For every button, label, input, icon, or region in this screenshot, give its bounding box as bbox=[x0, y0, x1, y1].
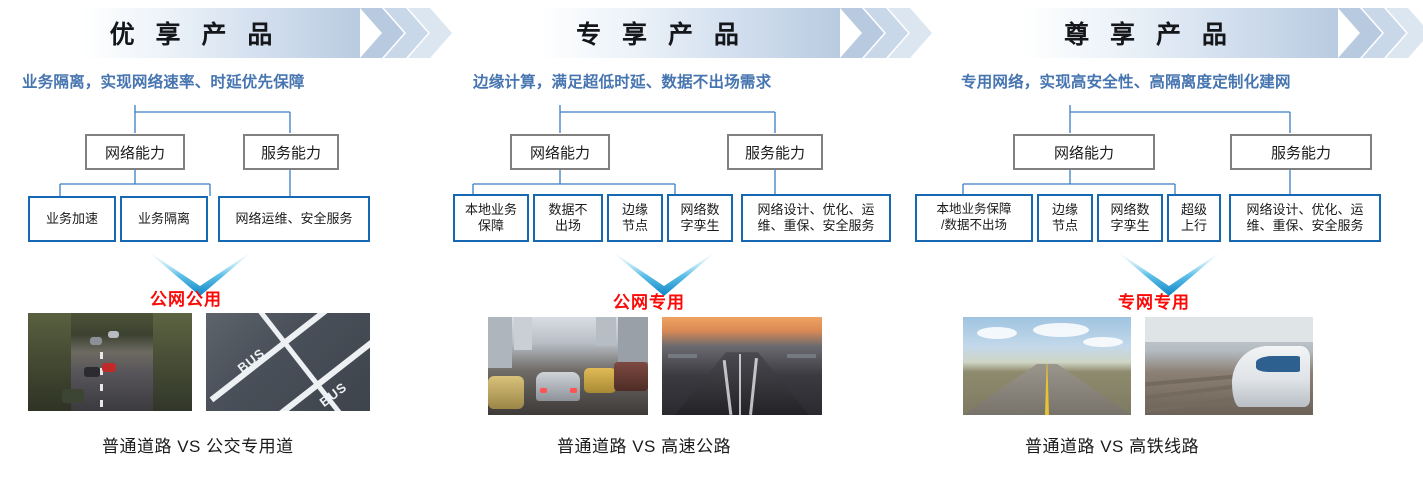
child-box-label: 业务隔离 bbox=[138, 211, 190, 227]
photo-highway bbox=[662, 317, 822, 415]
car-shape bbox=[84, 367, 100, 377]
lane-markings bbox=[100, 352, 103, 411]
child-box-row: 业务加速 业务隔离 网络运维、安全服务 bbox=[28, 196, 370, 242]
node-service-capability[interactable]: 服务能力 bbox=[1230, 134, 1372, 170]
child-box[interactable]: 数据不 出场 bbox=[533, 194, 603, 242]
child-box[interactable]: 本地业务保障 /数据不出场 bbox=[915, 194, 1033, 242]
photo-congested-road bbox=[488, 317, 648, 415]
cloud-shape bbox=[1083, 337, 1123, 347]
node-label: 服务能力 bbox=[1271, 142, 1331, 163]
node-label: 服务能力 bbox=[261, 142, 321, 163]
child-box-label: 网络设计、优化、运 维、重保、安全服务 bbox=[1246, 202, 1363, 235]
child-box-label: 本地业务 保障 bbox=[465, 202, 517, 235]
photo-high-speed-rail bbox=[1145, 317, 1313, 415]
child-box-label: 网络数 字孪生 bbox=[680, 202, 719, 235]
banner-youxiang: 优 享 产 品 bbox=[22, 8, 360, 58]
photo-caption: 普通道路 VS 公交专用道 bbox=[102, 432, 294, 457]
node-label: 网络能力 bbox=[105, 142, 165, 163]
cloud-shape bbox=[977, 327, 1017, 339]
banner-zhuanxiang: 专 享 产 品 bbox=[475, 8, 840, 58]
photo-pair bbox=[963, 317, 1313, 415]
child-box[interactable]: 网络数 字孪生 bbox=[667, 194, 733, 242]
building-shape bbox=[514, 317, 532, 350]
car-shape bbox=[108, 331, 119, 338]
child-box-row: 本地业务 保障 数据不 出场 边缘 节点 网络数 字孪生 网络设计、优化、运 维… bbox=[453, 194, 891, 242]
child-box-label: 本地业务保障 /数据不出场 bbox=[936, 202, 1011, 233]
child-box-row: 本地业务保障 /数据不出场 边缘 节点 网络数 字孪生 超级 上行 网络设计、优… bbox=[915, 194, 1381, 242]
banner-title: 尊 享 产 品 bbox=[1057, 15, 1234, 51]
child-box-label: 网络设计、优化、运 维、重保、安全服务 bbox=[757, 202, 874, 235]
photo-ordinary-road bbox=[28, 313, 192, 411]
child-box[interactable]: 业务隔离 bbox=[120, 196, 208, 242]
status-badge-gongwanggongyong: 公网公用 bbox=[150, 285, 222, 310]
child-box[interactable]: 网络设计、优化、运 维、重保、安全服务 bbox=[1229, 194, 1381, 242]
photo-caption: 普通道路 VS 高铁线路 bbox=[1025, 432, 1199, 457]
photo-caption: 普通道路 VS 高速公路 bbox=[557, 432, 731, 457]
child-box[interactable]: 超级 上行 bbox=[1167, 194, 1221, 242]
node-network-capability[interactable]: 网络能力 bbox=[85, 134, 185, 170]
car-shape bbox=[584, 368, 616, 393]
child-box-label: 数据不 出场 bbox=[548, 202, 587, 235]
chevron-right-icon bbox=[360, 8, 456, 58]
node-label: 网络能力 bbox=[530, 142, 590, 163]
node-service-capability[interactable]: 服务能力 bbox=[727, 134, 823, 170]
car-shape bbox=[102, 363, 116, 372]
photo-pair bbox=[488, 317, 822, 415]
chevron-right-icon bbox=[840, 8, 936, 58]
node-network-capability[interactable]: 网络能力 bbox=[1013, 134, 1155, 170]
cloud-shape bbox=[1033, 323, 1089, 337]
road-surface bbox=[675, 352, 809, 415]
station-roof bbox=[1145, 317, 1313, 342]
node-label: 网络能力 bbox=[1054, 142, 1114, 163]
product-column-zunxiang: 尊 享 产 品 专用网络，实现高安全性、高隔离度定制化建网 网络能力 服务能力 … bbox=[925, 0, 1423, 494]
taillight bbox=[570, 388, 577, 393]
train-window bbox=[1256, 356, 1300, 372]
subtitle-zunxiang: 专用网络，实现高安全性、高隔离度定制化建网 bbox=[961, 70, 1291, 92]
median-barrier bbox=[787, 354, 816, 358]
building-shape bbox=[618, 317, 648, 362]
photo-bus-lane: BUS BUS bbox=[206, 313, 370, 411]
banner-zunxiang: 尊 享 产 品 bbox=[953, 8, 1338, 58]
child-box[interactable]: 边缘 节点 bbox=[1037, 194, 1093, 242]
tree-connectors bbox=[0, 100, 455, 210]
taillight bbox=[540, 388, 547, 393]
child-box-label: 网络运维、安全服务 bbox=[235, 211, 352, 227]
child-box[interactable]: 网络运维、安全服务 bbox=[218, 196, 370, 242]
banner-title: 专 享 产 品 bbox=[569, 15, 746, 51]
child-box-label: 边缘 节点 bbox=[1052, 202, 1078, 235]
slide-canvas: 优 享 产 品 业务隔离，实现网络速率、时延优先保障 网络能力 服务能力 业务加… bbox=[0, 0, 1423, 494]
node-service-capability[interactable]: 服务能力 bbox=[243, 134, 339, 170]
median-barrier bbox=[668, 354, 697, 358]
child-box[interactable]: 本地业务 保障 bbox=[453, 194, 529, 242]
status-badge-gongwangzhuanyong: 公网专用 bbox=[613, 288, 685, 313]
child-box[interactable]: 边缘 节点 bbox=[607, 194, 663, 242]
subtitle-zhuanxiang: 边缘计算，满足超低时延、数据不出场需求 bbox=[473, 70, 771, 92]
light-trail bbox=[739, 354, 741, 415]
photo-pair: BUS BUS bbox=[28, 313, 370, 411]
car-shape bbox=[614, 362, 648, 391]
car-shape bbox=[90, 337, 102, 345]
child-box-label: 业务加速 bbox=[46, 211, 98, 227]
product-column-zhuanxiang: 专 享 产 品 边缘计算，满足超低时延、数据不出场需求 网络能力 服务能力 本地… bbox=[455, 0, 925, 494]
product-column-youxiang: 优 享 产 品 业务隔离，实现网络速率、时延优先保障 网络能力 服务能力 业务加… bbox=[0, 0, 455, 494]
building-shape bbox=[488, 317, 512, 368]
car-shape bbox=[536, 372, 580, 401]
chevron-right-icon bbox=[1338, 8, 1423, 58]
child-box-label: 网络数 字孪生 bbox=[1110, 202, 1149, 235]
building-shape bbox=[596, 317, 616, 346]
child-box-label: 超级 上行 bbox=[1181, 202, 1207, 235]
car-shape bbox=[488, 376, 524, 409]
status-badge-zhuanwangzhuanyong: 专网专用 bbox=[1118, 288, 1190, 313]
car-shape bbox=[62, 389, 84, 403]
child-box[interactable]: 业务加速 bbox=[28, 196, 116, 242]
child-box[interactable]: 网络设计、优化、运 维、重保、安全服务 bbox=[741, 194, 891, 242]
banner-title: 优 享 产 品 bbox=[103, 15, 280, 51]
node-label: 服务能力 bbox=[745, 142, 805, 163]
child-box-label: 边缘 节点 bbox=[622, 202, 648, 235]
photo-ordinary-highway bbox=[963, 317, 1131, 415]
child-box[interactable]: 网络数 字孪生 bbox=[1097, 194, 1163, 242]
subtitle-youxiang: 业务隔离，实现网络速率、时延优先保障 bbox=[22, 70, 305, 92]
node-network-capability[interactable]: 网络能力 bbox=[510, 134, 610, 170]
